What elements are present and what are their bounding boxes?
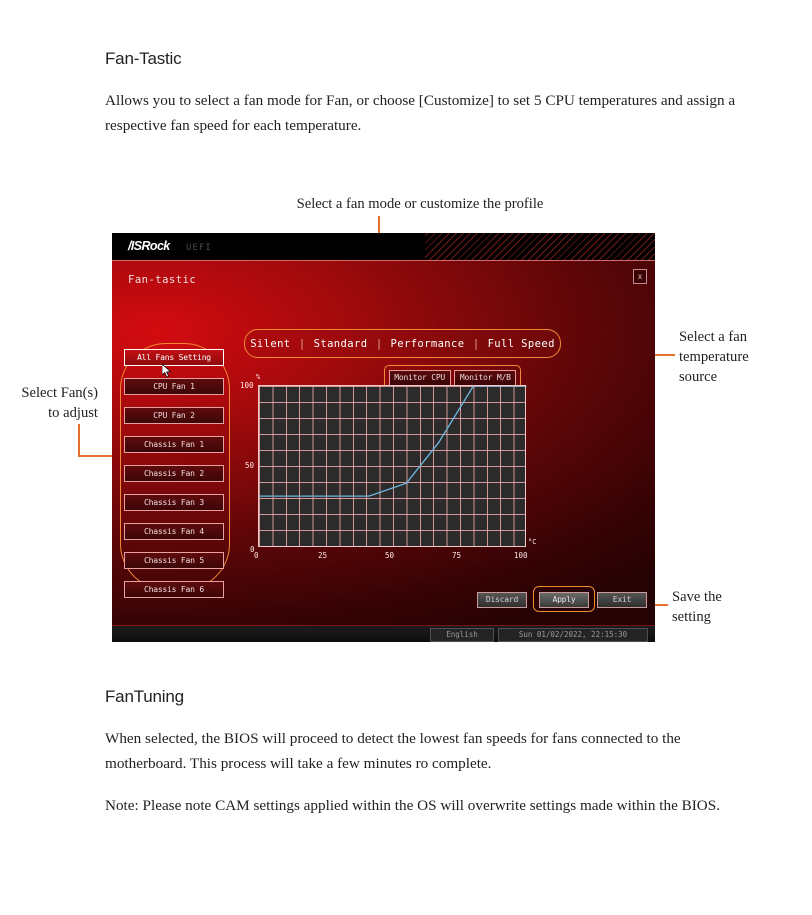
apply-highlight-ring bbox=[533, 586, 595, 612]
fan-item-cpu-fan-1[interactable]: CPU Fan 1 bbox=[124, 378, 224, 395]
x-tick-0: 0 bbox=[254, 551, 259, 560]
mode-separator-3: | bbox=[473, 338, 479, 350]
fan-mode-performance[interactable]: Performance bbox=[389, 338, 467, 350]
callout-line-left-vertical bbox=[78, 424, 80, 457]
bios-title-bar: /ISRock UEFI bbox=[112, 233, 655, 260]
asrock-logo: /ISRock bbox=[128, 239, 170, 253]
section-paragraph-fan-tuning: When selected, the BIOS will proceed to … bbox=[105, 726, 745, 776]
page-title: Fan-tastic bbox=[128, 274, 196, 286]
fan-item-chassis-fan-5[interactable]: Chassis Fan 5 bbox=[124, 552, 224, 569]
uefi-logo: UEFI bbox=[186, 243, 212, 253]
mode-separator-2: | bbox=[376, 338, 382, 350]
callout-temp-source-line2: temperature bbox=[679, 349, 749, 365]
fan-item-chassis-fan-6[interactable]: Chassis Fan 6 bbox=[124, 581, 224, 598]
decorative-stripes bbox=[425, 233, 655, 260]
fan-mode-selector: Silent | Standard | Performance | Full S… bbox=[244, 329, 561, 358]
y-axis-unit: % bbox=[256, 373, 260, 381]
fan-item-cpu-fan-2[interactable]: CPU Fan 2 bbox=[124, 407, 224, 424]
bios-window: /ISRock UEFI Fan-tastic x Silent | Stand… bbox=[112, 233, 655, 642]
callout-line-left-horizontal bbox=[78, 455, 114, 457]
action-button-row: Discard Apply Exit bbox=[477, 590, 645, 608]
fan-list: All Fans Setting CPU Fan 1 CPU Fan 2 Cha… bbox=[124, 349, 224, 610]
callout-select-fans-line2: to adjust bbox=[48, 405, 98, 421]
datetime-display: Sun 01/02/2022, 22:15:30 bbox=[498, 628, 648, 642]
fan-curve-plot-area[interactable] bbox=[258, 385, 526, 547]
fan-item-all-fans-setting[interactable]: All Fans Setting bbox=[124, 349, 224, 366]
fan-item-chassis-fan-4[interactable]: Chassis Fan 4 bbox=[124, 523, 224, 540]
callout-save-line2: setting bbox=[672, 609, 711, 625]
section-heading-fan-tuning: FanTuning bbox=[105, 687, 184, 707]
callout-save-setting: Save thesetting bbox=[672, 587, 802, 627]
fan-curve-chart: % 100 50 0 0 25 50 75 100 °C bbox=[240, 373, 530, 566]
fan-mode-standard[interactable]: Standard bbox=[312, 338, 370, 350]
x-tick-25: 25 bbox=[318, 551, 327, 560]
section-heading-fan-tastic: Fan-Tastic bbox=[105, 49, 181, 69]
bios-content-area: Fan-tastic x Silent | Standard | Perform… bbox=[112, 260, 655, 642]
language-selector[interactable]: English bbox=[430, 628, 494, 642]
mode-separator-1: | bbox=[299, 338, 305, 350]
fan-curve-line bbox=[259, 386, 527, 548]
callout-select-fan-mode: Select a fan mode or customize the profi… bbox=[275, 194, 565, 214]
section-note-cam: Note: Please note CAM settings applied w… bbox=[105, 793, 745, 818]
callout-temp-source-line3: source bbox=[679, 369, 717, 385]
callout-select-fans-line1: Select Fan(s) bbox=[21, 385, 98, 401]
callout-save-line1: Save the bbox=[672, 589, 722, 605]
x-axis-unit: °C bbox=[528, 538, 536, 546]
callout-select-fans: Select Fan(s)to adjust bbox=[0, 383, 98, 423]
y-tick-50: 50 bbox=[245, 461, 254, 470]
fan-item-chassis-fan-3[interactable]: Chassis Fan 3 bbox=[124, 494, 224, 511]
fan-mode-full-speed[interactable]: Full Speed bbox=[486, 338, 557, 350]
fan-item-chassis-fan-1[interactable]: Chassis Fan 1 bbox=[124, 436, 224, 453]
callout-temperature-source: Select a fantemperaturesource bbox=[679, 327, 809, 387]
discard-button[interactable]: Discard bbox=[477, 592, 527, 608]
fan-item-chassis-fan-2[interactable]: Chassis Fan 2 bbox=[124, 465, 224, 482]
close-icon[interactable]: x bbox=[633, 269, 647, 284]
section-paragraph-fan-tastic: Allows you to select a fan mode for Fan,… bbox=[105, 88, 745, 138]
exit-button[interactable]: Exit bbox=[597, 592, 647, 608]
fan-mode-silent[interactable]: Silent bbox=[248, 338, 292, 350]
callout-temp-source-line1: Select a fan bbox=[679, 329, 747, 345]
x-tick-75: 75 bbox=[452, 551, 461, 560]
y-tick-100: 100 bbox=[240, 381, 254, 390]
x-tick-100: 100 bbox=[514, 551, 528, 560]
status-bar: English Sun 01/02/2022, 22:15:30 bbox=[112, 625, 655, 642]
x-tick-50: 50 bbox=[385, 551, 394, 560]
